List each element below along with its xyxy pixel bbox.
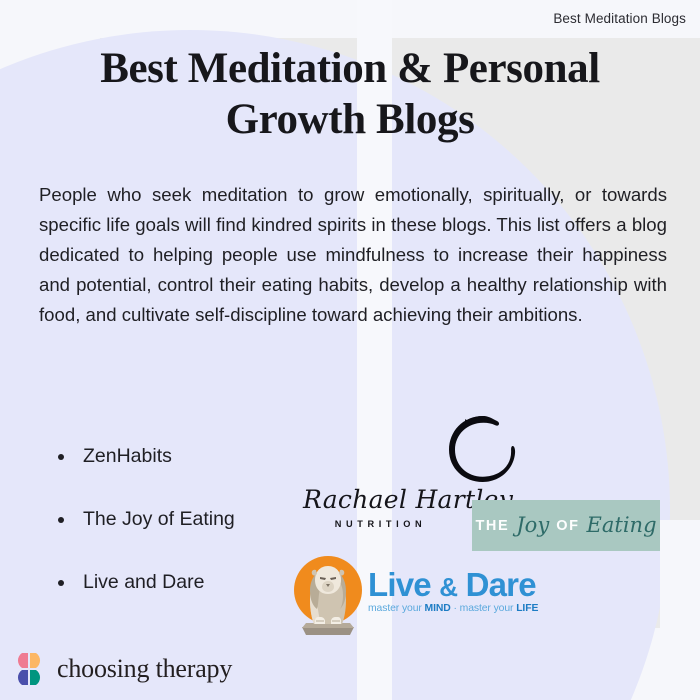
joy-of-eating-the: THE: [475, 518, 509, 534]
enso-circle-icon: [443, 413, 521, 485]
bullet-dot-icon: [58, 454, 64, 460]
list-item: ZenHabits: [58, 425, 348, 488]
zenhabits-logo: [443, 413, 521, 485]
live-and-dare-logo: Live & Dare master your MIND · master yo…: [288, 551, 533, 637]
joy-of-eating-logo: THE Joy OF Eating: [472, 500, 660, 551]
tagline-part-2: · master your: [451, 603, 516, 614]
live-and-dare-word-2: Dare: [466, 566, 536, 603]
list-item-label: ZenHabits: [83, 445, 172, 468]
tagline-life: LIFE: [516, 603, 538, 614]
live-and-dare-title: Live & Dare: [368, 568, 533, 601]
brand-name: choosing therapy: [57, 654, 232, 684]
page-title: Best Meditation & Personal Growth Blogs: [36, 44, 664, 145]
rachael-hartley-subtitle: NUTRITION: [303, 519, 458, 529]
bullet-dot-icon: [58, 517, 64, 523]
tagline-part-1: master your: [368, 603, 425, 614]
rachael-hartley-logo: Rachael Hartley NUTRITION: [303, 487, 458, 537]
logo-quadrant-top-right: [30, 653, 40, 668]
body-paragraph: People who seek meditation to grow emoti…: [39, 180, 667, 331]
slide-canvas: Best Meditation Blogs Best Meditation & …: [0, 0, 700, 700]
live-and-dare-word-1: Live: [368, 566, 431, 603]
right-fill-shape: [660, 520, 700, 700]
lion-statue-icon: [288, 553, 368, 637]
logo-quadrant-bottom-right: [30, 670, 40, 685]
brand-footer[interactable]: choosing therapy: [12, 652, 232, 686]
live-and-dare-ampersand: &: [439, 572, 457, 602]
logo-quadrant-bottom-left: [18, 670, 28, 685]
live-and-dare-wordmark: Live & Dare master your MIND · master yo…: [368, 568, 533, 614]
bullet-dot-icon: [58, 580, 64, 586]
rachael-hartley-script: Rachael Hartley: [303, 487, 458, 512]
choosing-therapy-logo-icon: [12, 652, 46, 686]
body-paragraph-last-line: cultivate self-discipline toward achievi…: [122, 304, 583, 325]
page-title-line-1: Best Meditation & Personal: [100, 45, 600, 92]
tagline-mind: MIND: [425, 603, 451, 614]
list-item-label: Live and Dare: [83, 571, 204, 594]
joy-of-eating-eating: Eating: [587, 515, 657, 536]
joy-of-eating-joy: Joy: [516, 515, 549, 536]
live-and-dare-tagline: master your MIND · master your LIFE: [368, 603, 533, 614]
joy-of-eating-of: OF: [556, 518, 579, 534]
list-item-label: The Joy of Eating: [83, 508, 235, 531]
page-title-line-2: Growth Blogs: [226, 96, 475, 143]
logo-quadrant-top-left: [18, 653, 28, 668]
lion-emblem: [288, 553, 368, 637]
header-kicker: Best Meditation Blogs: [553, 11, 686, 26]
